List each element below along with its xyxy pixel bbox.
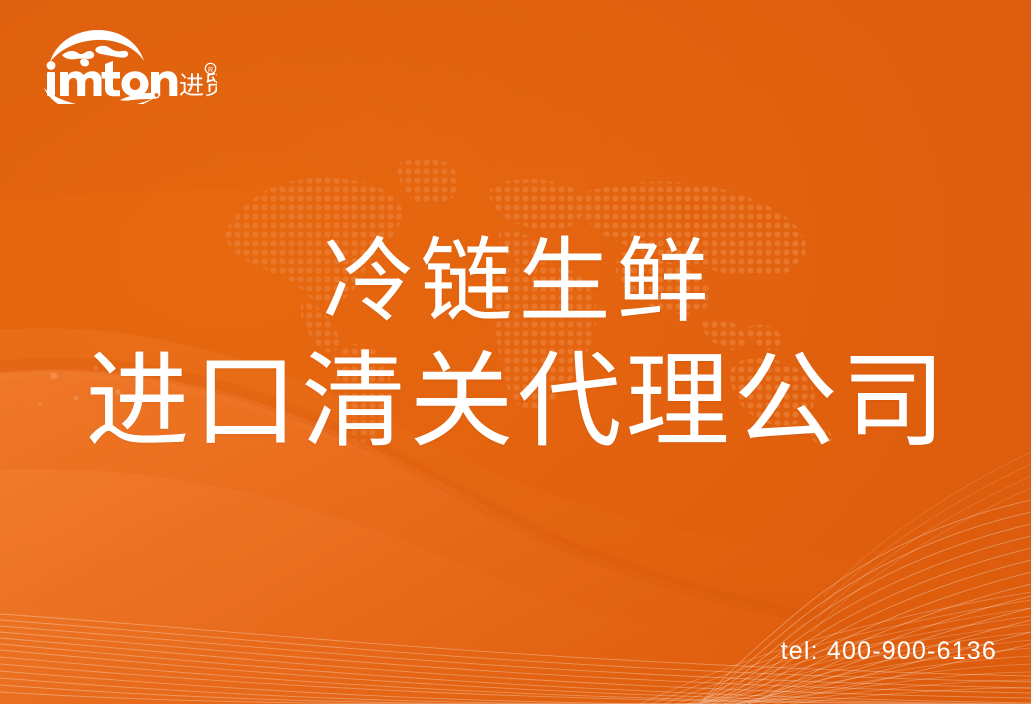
marketing-banner: 进贸通 R 冷链生鲜 进口清关代理公司 tel: 400-900-6136 [0,0,1031,704]
headline-line-2: 进口清关代理公司 [0,350,1031,454]
logo-wordmark-cn: 进贸通 [179,71,217,100]
logo-wordmark-latin [47,61,178,97]
headline-line-1: 冷链生鲜 [0,236,1031,328]
brand-logo[interactable]: 进贸通 R [42,28,217,104]
contact-phone[interactable]: tel: 400-900-6136 [781,637,997,666]
globe-arc-icon [50,30,144,66]
page-title: 冷链生鲜 进口清关代理公司 [0,236,1031,454]
registered-trademark-icon: R [205,63,215,74]
svg-text:R: R [208,67,213,74]
